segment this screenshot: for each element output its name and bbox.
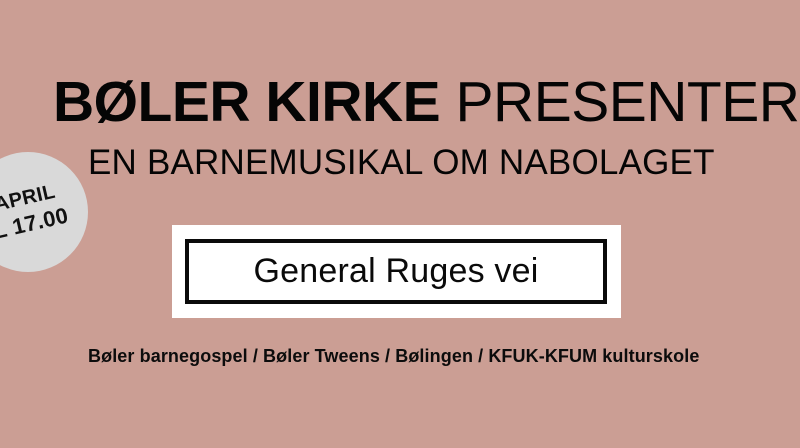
page-subtitle: EN BARNEMUSIKAL OM NABOLAGET <box>88 145 715 180</box>
poster-canvas: APRIL L 17.00 BØLER KIRKE PRESENTERER EN… <box>0 0 800 448</box>
credits-line: Bøler barnegospel / Bøler Tweens / Bølin… <box>88 346 699 367</box>
page-title: BØLER KIRKE PRESENTERER <box>53 74 800 131</box>
show-title-text: General Ruges vei <box>254 252 539 291</box>
show-title-border: General Ruges vei <box>185 239 607 304</box>
date-time-badge-content: APRIL L 17.00 <box>0 152 88 272</box>
headline-presents: PRESENTERER <box>440 70 800 134</box>
date-time-badge: APRIL L 17.00 <box>0 152 88 272</box>
headline-organizer: BØLER KIRKE <box>53 70 440 134</box>
show-title-frame: General Ruges vei <box>172 225 621 318</box>
